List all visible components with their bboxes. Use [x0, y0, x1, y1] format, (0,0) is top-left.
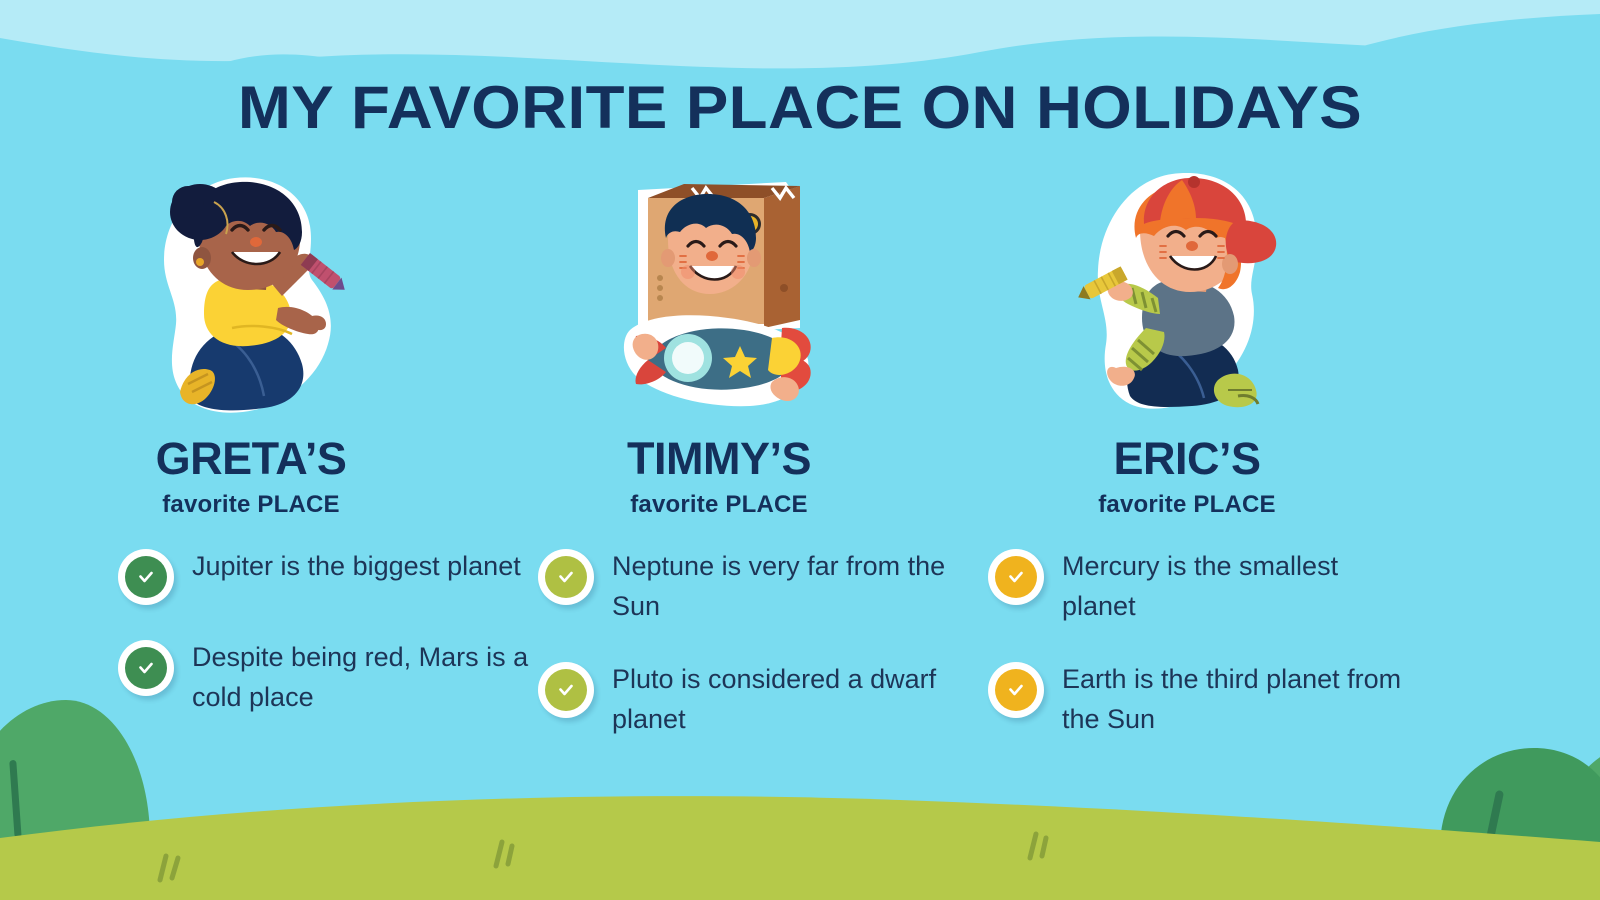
- owner-subtitle: favorite PLACE: [156, 493, 347, 517]
- column-eric: ERIC’S favorite PLACE Mercury is the sma…: [958, 168, 1416, 740]
- check-circle-icon: [995, 669, 1037, 711]
- list-item-text: Earth is the third planet from the Sun: [1062, 660, 1402, 740]
- owner-name: ERIC’S: [1098, 436, 1276, 481]
- column-heading-eric: ERIC’S favorite PLACE: [1098, 436, 1276, 517]
- check-circle-icon: [995, 556, 1037, 598]
- check-circle-icon: [125, 647, 167, 689]
- bullet-list-greta: Jupiter is the biggest planet Despite be…: [118, 547, 548, 718]
- check-circle-icon: [545, 669, 587, 711]
- bush-right-shape: [1440, 742, 1600, 852]
- column-heading-greta: GRETA’S favorite PLACE: [156, 436, 347, 517]
- bullet-list-eric: Mercury is the smallest planet Earth is …: [988, 547, 1418, 740]
- slide-canvas: MY FAVORITE PLACE ON HOLIDAYS: [0, 0, 1600, 900]
- check-badge: [538, 662, 594, 718]
- columns-container: GRETA’S favorite PLACE Jupiter is the bi…: [0, 168, 1600, 740]
- list-item-text: Mercury is the smallest planet: [1062, 547, 1402, 627]
- check-badge: [988, 662, 1044, 718]
- check-badge: [118, 640, 174, 696]
- illustration-boy-with-red-cap-and-crayon: [1072, 168, 1302, 418]
- list-item-text: Despite being red, Mars is a cold place: [192, 638, 532, 718]
- check-circle-icon: [125, 556, 167, 598]
- owner-subtitle: favorite PLACE: [627, 493, 811, 517]
- column-heading-timmy: TIMMY’S favorite PLACE: [627, 436, 811, 517]
- column-greta: GRETA’S favorite PLACE Jupiter is the bi…: [22, 168, 480, 718]
- list-item: Earth is the third planet from the Sun: [988, 660, 1418, 740]
- owner-subtitle: favorite PLACE: [1098, 493, 1276, 517]
- list-item: Mercury is the smallest planet: [988, 547, 1418, 627]
- list-item-text: Pluto is considered a dwarf planet: [612, 660, 952, 740]
- check-badge: [538, 549, 594, 605]
- grass-tufts: [160, 834, 1046, 880]
- column-timmy: TIMMY’S favorite PLACE Neptune is very f…: [490, 168, 948, 740]
- list-item: Pluto is considered a dwarf planet: [538, 660, 968, 740]
- list-item-text: Jupiter is the biggest planet: [192, 547, 521, 587]
- illustration-boy-with-box-helmet-and-rocket: [604, 168, 834, 418]
- owner-name: GRETA’S: [156, 436, 347, 481]
- illustration-girl-with-crayon: [136, 168, 366, 418]
- list-item-text: Neptune is very far from the Sun: [612, 547, 952, 627]
- check-badge: [988, 549, 1044, 605]
- list-item: Neptune is very far from the Sun: [538, 547, 968, 627]
- owner-name: TIMMY’S: [627, 436, 811, 481]
- bullet-list-timmy: Neptune is very far from the Sun Pluto i…: [538, 547, 968, 740]
- page-title: MY FAVORITE PLACE ON HOLIDAYS: [0, 78, 1600, 138]
- check-circle-icon: [545, 556, 587, 598]
- check-badge: [118, 549, 174, 605]
- list-item: Jupiter is the biggest planet: [118, 547, 548, 605]
- list-item: Despite being red, Mars is a cold place: [118, 638, 548, 718]
